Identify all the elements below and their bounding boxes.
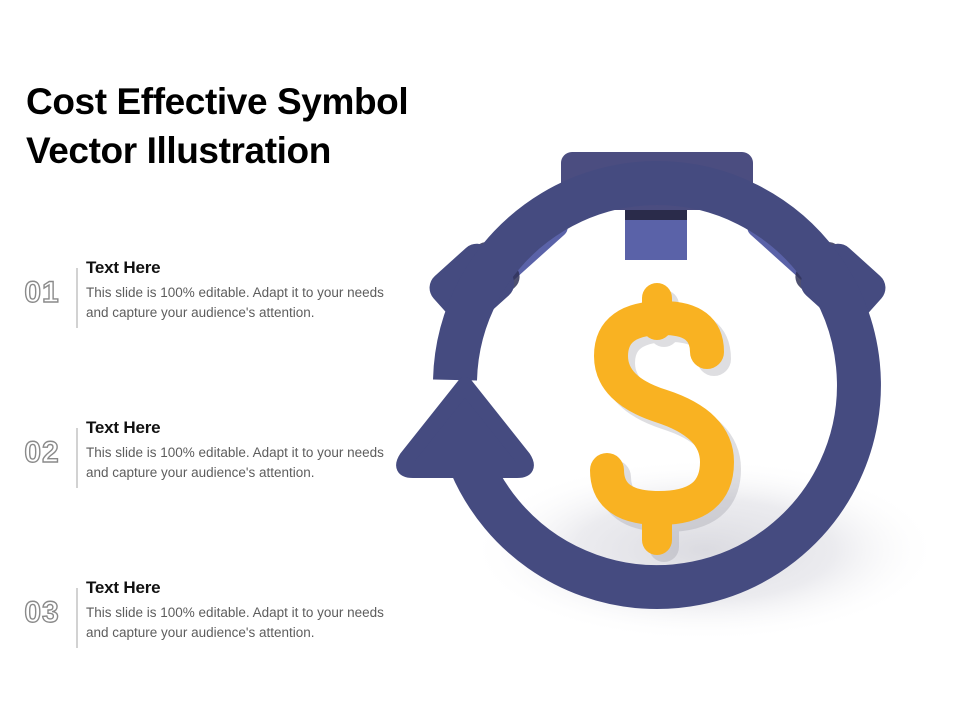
item-heading: Text Here — [86, 258, 396, 278]
item-number: 02 — [14, 438, 70, 468]
item-description: This slide is 100% editable. Adapt it to… — [86, 603, 396, 642]
stopwatch-dollar-illustration — [395, 140, 940, 670]
item-divider — [76, 588, 78, 648]
list-item[interactable]: 03 Text Here This slide is 100% editable… — [14, 578, 404, 668]
slide-canvas: Cost Effective Symbol Vector Illustratio… — [0, 0, 960, 720]
item-body: Text Here This slide is 100% editable. A… — [86, 258, 396, 323]
item-body: Text Here This slide is 100% editable. A… — [86, 418, 396, 483]
item-divider — [76, 268, 78, 328]
item-number: 03 — [14, 598, 70, 628]
list-item[interactable]: 02 Text Here This slide is 100% editable… — [14, 418, 404, 508]
dollar-sign — [607, 298, 724, 547]
list-item[interactable]: 01 Text Here This slide is 100% editable… — [14, 258, 404, 348]
item-description: This slide is 100% editable. Adapt it to… — [86, 443, 396, 482]
item-body: Text Here This slide is 100% editable. A… — [86, 578, 396, 643]
item-heading: Text Here — [86, 418, 396, 438]
item-number: 01 — [14, 278, 70, 308]
refresh-arrowhead — [404, 385, 526, 470]
item-heading: Text Here — [86, 578, 396, 598]
item-description: This slide is 100% editable. Adapt it to… — [86, 283, 396, 322]
item-divider — [76, 428, 78, 488]
